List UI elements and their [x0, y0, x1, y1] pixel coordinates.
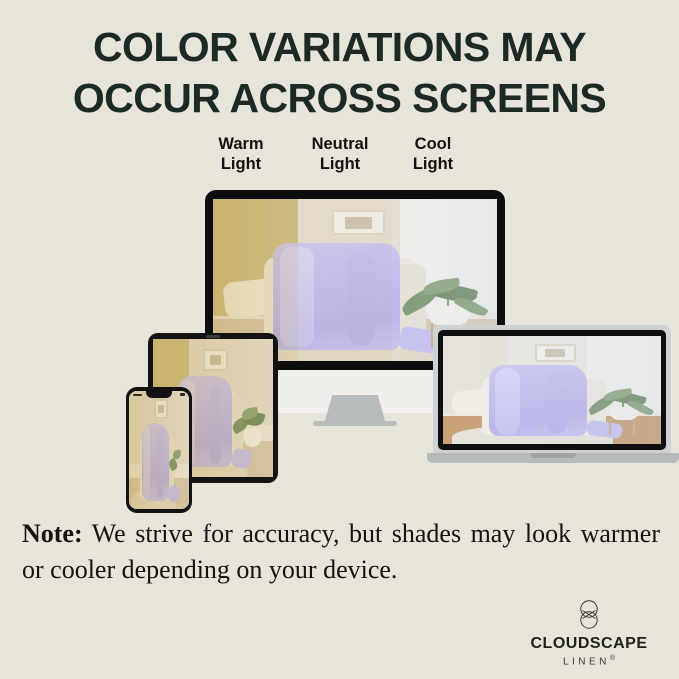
brand-name: CLOUDSCAPE: [521, 635, 657, 653]
infographic-canvas: COLOR VARIATIONS MAY OCCUR ACROSS SCREEN…: [0, 0, 679, 679]
scene-plant-pot: [244, 429, 261, 447]
phone-notch: [146, 391, 172, 398]
light-condition-labels: Warm Light Neutral Light Cool Light: [0, 134, 679, 184]
phone-bezel: [126, 387, 192, 513]
label-warm-light: Warm Light: [196, 134, 286, 174]
scene-throw-tail: [167, 485, 179, 503]
monitor-stand-base: [313, 421, 397, 426]
product-scene-phone: [129, 391, 189, 509]
scene-wall-frame: [535, 344, 576, 362]
brand-subtitle: LINEN®: [521, 655, 657, 667]
laptop-bezel: [438, 330, 666, 450]
scene-wall-frame: [203, 349, 227, 371]
label-cool-light: Cool Light: [388, 134, 478, 174]
scene-plant-stand: [609, 419, 635, 435]
registered-trademark-icon: ®: [610, 655, 615, 662]
page-title-line-1: COLOR VARIATIONS MAY: [93, 24, 586, 70]
scene-throw-blanket: [142, 423, 169, 501]
infinity-knot-icon: [574, 598, 604, 632]
page-title: COLOR VARIATIONS MAY OCCUR ACROSS SCREEN…: [0, 22, 679, 124]
device-phone: [126, 387, 192, 513]
brand-subtitle-text: LINEN: [563, 656, 610, 667]
label-warm-light-line-1: Warm: [196, 134, 286, 154]
scene-throw-blanket: [489, 365, 587, 436]
laptop-screen: [443, 336, 661, 444]
label-warm-light-line-2: Light: [196, 154, 286, 174]
label-cool-light-line-2: Light: [388, 154, 478, 174]
note-label: Note:: [22, 519, 83, 548]
product-scene-laptop: [443, 336, 661, 444]
tablet-camera-icon: [206, 335, 220, 338]
signal-icon: [133, 394, 142, 396]
device-laptop: [427, 325, 679, 471]
note-text: We strive for accuracy, but shades may l…: [22, 519, 660, 584]
laptop-lid: [433, 325, 671, 455]
scene-wall-frame: [154, 399, 168, 418]
battery-icon: [180, 393, 185, 396]
label-neutral-light-line-1: Neutral: [295, 134, 385, 154]
laptop-base-notch: [530, 453, 576, 458]
monitor-neutral-zone: [298, 199, 392, 361]
phone-screen: [129, 391, 189, 509]
device-mockups: [0, 186, 679, 506]
label-cool-light-line-1: Cool: [388, 134, 478, 154]
label-neutral-light: Neutral Light: [295, 134, 385, 174]
page-title-line-2: OCCUR ACROSS SCREENS: [0, 73, 679, 124]
disclaimer-note: Note: We strive for accuracy, but shades…: [22, 516, 660, 588]
label-neutral-light-line-2: Light: [295, 154, 385, 174]
brand-logo: CLOUDSCAPE LINEN®: [521, 598, 657, 667]
